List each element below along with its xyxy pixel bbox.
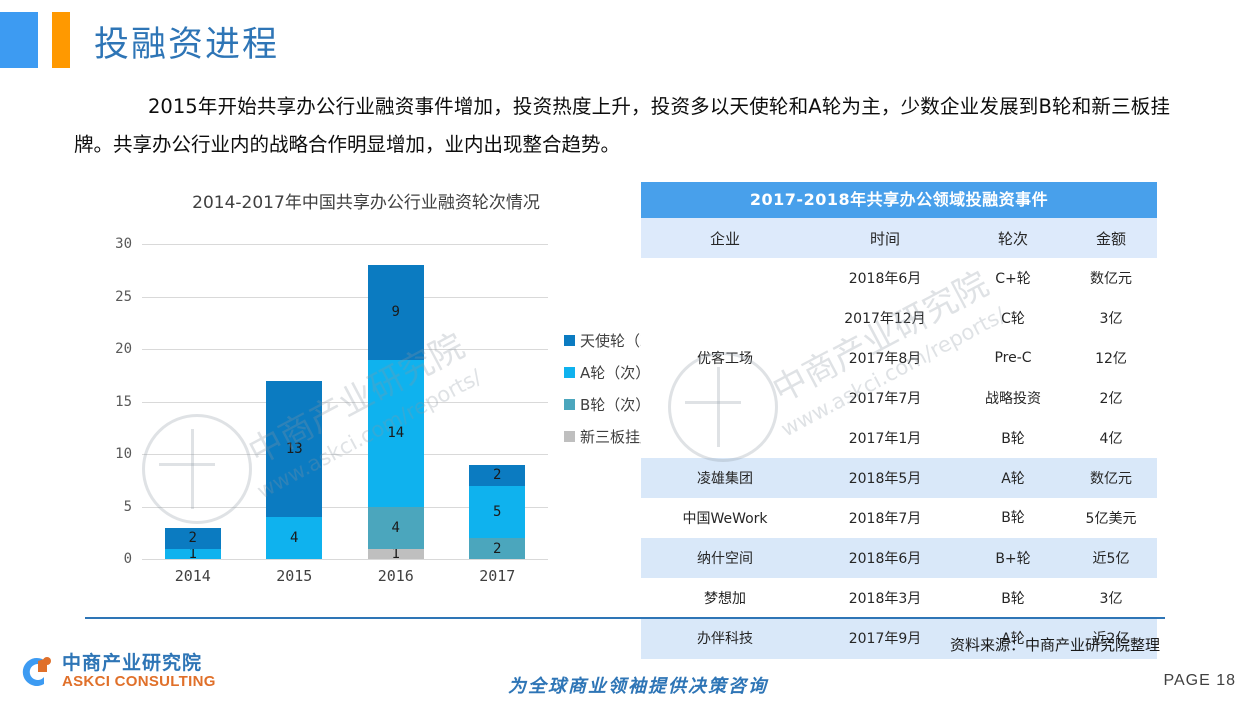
- table-cell-company: 中国WeWork: [641, 498, 809, 538]
- table-cell-amount: 数亿元: [1065, 258, 1157, 298]
- table-title: 2017-2018年共享办公领域投融资事件: [641, 182, 1157, 218]
- financing-rounds-chart: 2014-2017年中国共享办公行业融资轮次情况 051015202530 12…: [96, 182, 636, 592]
- chart-bar-segment: 5: [469, 486, 525, 539]
- table-subrow: 2018年5月A轮数亿元: [809, 458, 1157, 498]
- table-cell-company: 凌雄集团: [641, 458, 809, 498]
- table-subrows: 2018年6月C+轮数亿元2017年12月C轮3亿2017年8月Pre-C12亿…: [809, 258, 1157, 458]
- page-title: 投融资进程: [94, 16, 279, 67]
- table-cell-round: C+轮: [961, 258, 1065, 298]
- table-cell-amount: 5亿美元: [1065, 498, 1157, 538]
- table-cell-time: 2017年12月: [809, 298, 961, 338]
- chart-y-tick: 25: [115, 289, 132, 305]
- table-subrow: 2017年8月Pre-C12亿: [809, 338, 1157, 378]
- chart-x-axis: 2014201520162017: [142, 559, 548, 589]
- table-cell-round: A轮: [961, 458, 1065, 498]
- chart-y-tick: 15: [115, 394, 132, 410]
- table-column-header: 企业: [641, 228, 809, 249]
- table-cell-time: 2018年7月: [809, 498, 961, 538]
- table-cell-round: B轮: [961, 578, 1065, 618]
- table-row: 梦想加2018年3月B轮3亿: [641, 578, 1157, 618]
- chart-x-tick: 2015: [259, 567, 329, 585]
- table-cell-time: 2017年7月: [809, 378, 961, 418]
- company-logo: 中商产业研究院 ASKCI CONSULTING: [14, 652, 216, 692]
- chart-legend-swatch: [564, 399, 575, 410]
- table-cell-round: Pre-C: [961, 338, 1065, 378]
- slide: 投融资进程 2015年开始共享办公行业融资事件增加，投资热度上升，投资多以天使轮…: [0, 0, 1250, 710]
- chart-bar-segment: 1: [165, 549, 221, 560]
- table-cell-round: B轮: [961, 498, 1065, 538]
- chart-x-tick: 2017: [462, 567, 532, 585]
- table-cell-round: B+轮: [961, 538, 1065, 578]
- table-column-header: 时间: [809, 228, 961, 249]
- table-subrow: 2018年7月B轮5亿美元: [809, 498, 1157, 538]
- table-row: 优客工场2018年6月C+轮数亿元2017年12月C轮3亿2017年8月Pre-…: [641, 258, 1157, 458]
- table-cell-amount: 近5亿: [1065, 538, 1157, 578]
- table-subrows: 2018年7月B轮5亿美元: [809, 498, 1157, 538]
- chart-bar-segment: 2: [469, 538, 525, 559]
- table-cell-company: 梦想加: [641, 578, 809, 618]
- table-bottom-border: [641, 658, 1157, 659]
- table-cell-company: 纳什空间: [641, 538, 809, 578]
- table-cell-amount: 3亿: [1065, 578, 1157, 618]
- footer-tagline: 为全球商业领袖提供决策咨询: [508, 672, 768, 698]
- chart-y-tick: 0: [124, 551, 132, 567]
- chart-bar-segment: 2: [469, 465, 525, 486]
- source-note: 资料来源：中商产业研究院整理: [950, 634, 1160, 655]
- chart-bar-segment: 1: [368, 549, 424, 560]
- chart-x-tick: 2016: [361, 567, 431, 585]
- page-number: PAGE 18: [1163, 672, 1236, 690]
- table-cell-company: 优客工场: [641, 258, 809, 458]
- table-cell-time: 2018年5月: [809, 458, 961, 498]
- table-row: 中国WeWork2018年7月B轮5亿美元: [641, 498, 1157, 538]
- chart-bar-segment: 4: [266, 517, 322, 559]
- table-header-row: 企业时间轮次金额: [641, 218, 1157, 258]
- chart-bar-segment: 14: [368, 360, 424, 507]
- table-cell-time: 2018年3月: [809, 578, 961, 618]
- table-subrows: 2018年3月B轮3亿: [809, 578, 1157, 618]
- chart-legend-label: B轮（次）: [580, 394, 650, 415]
- table-subrows: 2018年5月A轮数亿元: [809, 458, 1157, 498]
- chart-bar-segment: 4: [368, 507, 424, 549]
- chart-legend-swatch: [564, 367, 575, 378]
- table-cell-amount: 4亿: [1065, 418, 1157, 458]
- table-body: 优客工场2018年6月C+轮数亿元2017年12月C轮3亿2017年8月Pre-…: [641, 258, 1157, 658]
- logo-english-name: ASKCI CONSULTING: [62, 674, 216, 690]
- table-cell-time: 2017年9月: [809, 618, 961, 658]
- table-subrow: 2018年6月C+轮数亿元: [809, 258, 1157, 298]
- logo-text: 中商产业研究院 ASKCI CONSULTING: [62, 654, 216, 690]
- chart-bar-segment: 2: [165, 528, 221, 549]
- table-row: 凌雄集团2018年5月A轮数亿元: [641, 458, 1157, 498]
- table-cell-amount: 3亿: [1065, 298, 1157, 338]
- table-subrow: 2017年7月战略投资2亿: [809, 378, 1157, 418]
- chart-x-tick: 2014: [158, 567, 228, 585]
- investment-events-table: 2017-2018年共享办公领域投融资事件 企业时间轮次金额 优客工场2018年…: [641, 182, 1157, 659]
- footer-divider: [85, 617, 1165, 619]
- chart-y-tick: 5: [124, 499, 132, 515]
- chart-legend-label: A轮（次）: [580, 362, 650, 383]
- chart-bars: 1241314149252: [142, 244, 548, 559]
- chart-y-tick: 10: [115, 446, 132, 462]
- chart-y-tick: 20: [115, 341, 132, 357]
- table-cell-time: 2017年8月: [809, 338, 961, 378]
- table-subrows: 2018年6月B+轮近5亿: [809, 538, 1157, 578]
- table-cell-time: 2018年6月: [809, 538, 961, 578]
- askci-logo-icon: [14, 652, 54, 692]
- header-accent-orange-bar: [52, 12, 70, 68]
- table-cell-time: 2017年1月: [809, 418, 961, 458]
- chart-bar-segment: 9: [368, 265, 424, 360]
- table-row: 纳什空间2018年6月B+轮近5亿: [641, 538, 1157, 578]
- table-subrow: 2018年6月B+轮近5亿: [809, 538, 1157, 578]
- header-accent-blue-bar: [0, 12, 38, 68]
- chart-plot-area: 051015202530 1241314149252 2014201520162…: [142, 244, 548, 559]
- chart-legend-swatch: [564, 335, 575, 346]
- chart-legend-swatch: [564, 431, 575, 442]
- table-cell-amount: 数亿元: [1065, 458, 1157, 498]
- table-cell-round: 战略投资: [961, 378, 1065, 418]
- chart-y-tick: 30: [115, 236, 132, 252]
- table-cell-amount: 12亿: [1065, 338, 1157, 378]
- logo-chinese-name: 中商产业研究院: [62, 654, 216, 674]
- table-cell-amount: 2亿: [1065, 378, 1157, 418]
- chart-bar-segment: 13: [266, 381, 322, 518]
- table-subrow: 2017年1月B轮4亿: [809, 418, 1157, 458]
- table-column-header: 轮次: [961, 228, 1065, 249]
- chart-y-axis: 051015202530: [98, 244, 138, 559]
- table-cell-time: 2018年6月: [809, 258, 961, 298]
- table-cell-round: C轮: [961, 298, 1065, 338]
- table-subrow: 2018年3月B轮3亿: [809, 578, 1157, 618]
- table-subrow: 2017年12月C轮3亿: [809, 298, 1157, 338]
- table-cell-company: 办伴科技: [641, 618, 809, 658]
- chart-title: 2014-2017年中国共享办公行业融资轮次情况: [96, 188, 636, 213]
- table-column-header: 金额: [1065, 228, 1157, 249]
- table-cell-round: B轮: [961, 418, 1065, 458]
- body-paragraph: 2015年开始共享办公行业融资事件增加，投资热度上升，投资多以天使轮和A轮为主，…: [74, 88, 1170, 164]
